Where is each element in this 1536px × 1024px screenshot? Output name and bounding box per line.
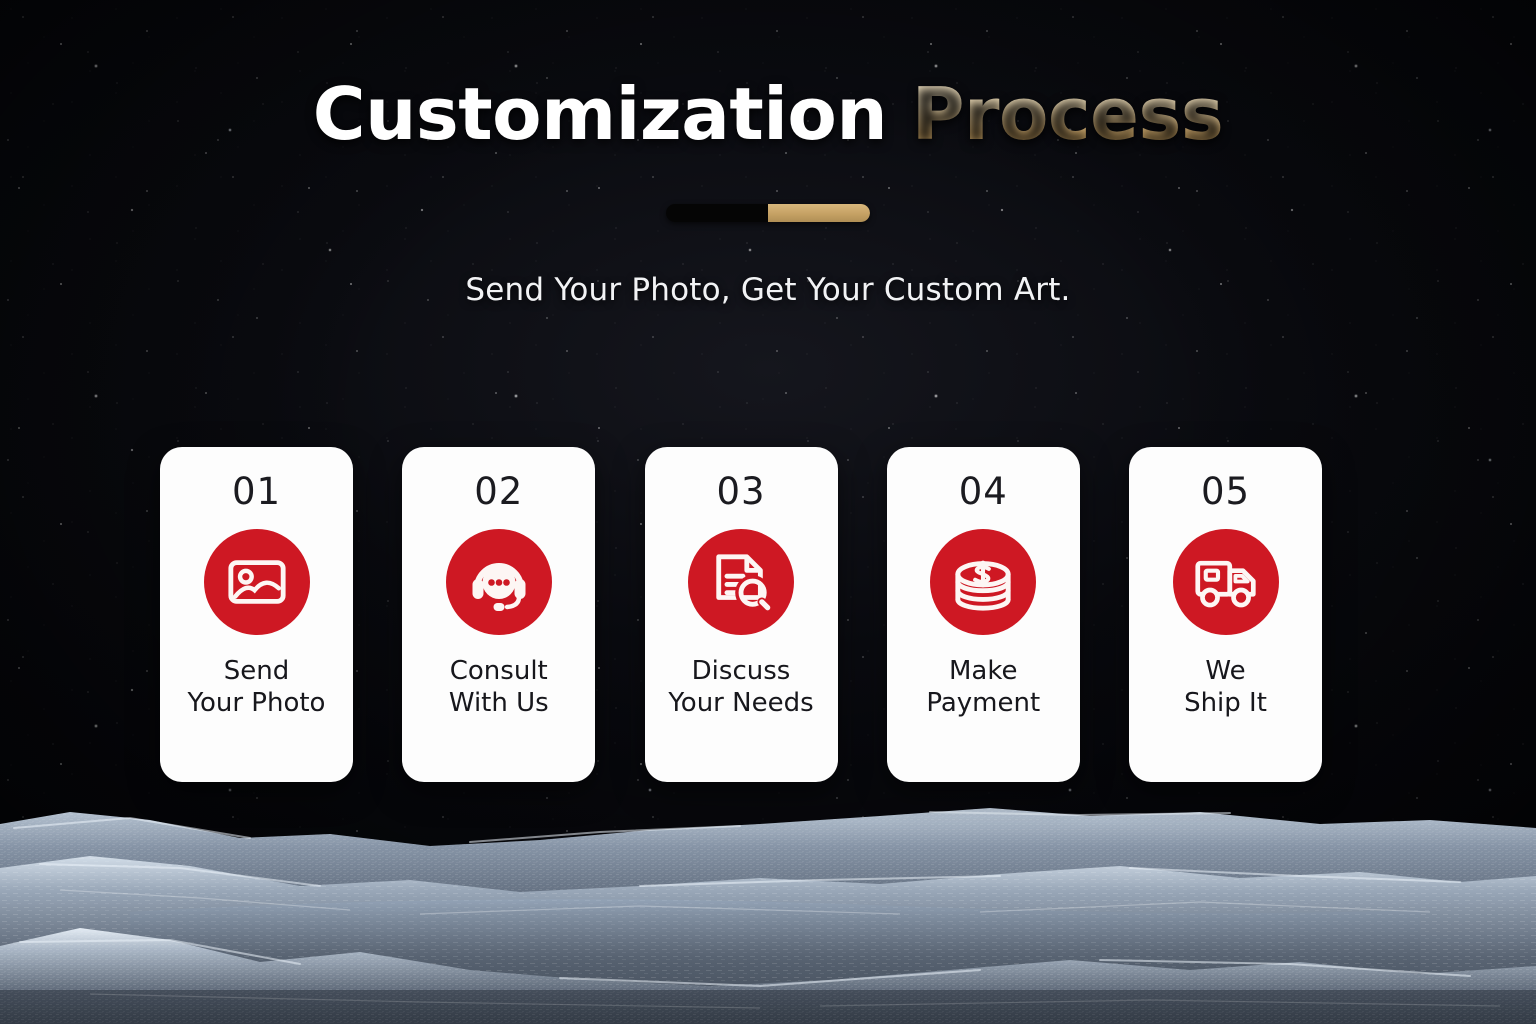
- divider-segment-gold: [768, 204, 870, 222]
- step-label: Discuss Your Needs: [662, 656, 819, 719]
- section-divider: [666, 204, 870, 222]
- process-steps-list: 01 Send Your Photo 02: [160, 447, 1322, 782]
- page-title-primary: Customization: [313, 72, 887, 156]
- coins-stack-dollar-icon: [930, 529, 1036, 635]
- process-step-card-5[interactable]: 05 We Ship It: [1129, 447, 1322, 782]
- step-label: We Ship It: [1178, 656, 1273, 719]
- page-title-accent: Process: [912, 72, 1223, 156]
- step-number: 02: [474, 473, 523, 510]
- page-content: Customization Process Send Your Photo, G…: [0, 0, 1536, 1024]
- step-label: Send Your Photo: [182, 656, 332, 719]
- process-step-card-2[interactable]: 02 Consult With Us: [402, 447, 595, 782]
- page-subtitle: Send Your Photo, Get Your Custom Art.: [0, 272, 1536, 308]
- delivery-truck-icon: [1173, 529, 1279, 635]
- page-title: Customization Process: [0, 78, 1536, 150]
- headset-support-icon: [446, 529, 552, 635]
- step-number: 01: [232, 473, 281, 510]
- step-label: Make Payment: [920, 656, 1046, 719]
- process-step-card-4[interactable]: 04 Make Payment: [887, 447, 1080, 782]
- process-step-card-3[interactable]: 03 Discuss Your Needs: [645, 447, 838, 782]
- step-number: 03: [716, 473, 765, 510]
- divider-segment-dark: [666, 204, 768, 222]
- step-number: 05: [1201, 473, 1250, 510]
- document-search-icon: [688, 529, 794, 635]
- image-photo-icon: [204, 529, 310, 635]
- step-number: 04: [959, 473, 1008, 510]
- step-label: Consult With Us: [443, 656, 555, 719]
- process-step-card-1[interactable]: 01 Send Your Photo: [160, 447, 353, 782]
